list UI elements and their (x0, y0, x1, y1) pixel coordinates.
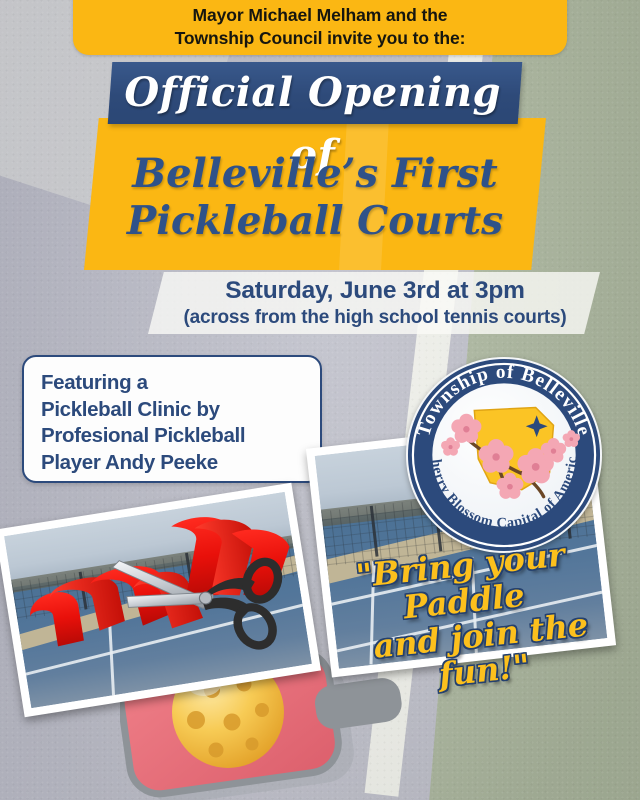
headline-line-1: Belleville’s First (132, 150, 497, 197)
featuring-line-2: Pickleball Clinic by (41, 397, 320, 424)
invitation-line-1: Mayor Michael Melham and the (175, 4, 466, 26)
event-date-block: Saturday, June 3rd at 3pm (across from t… (120, 276, 630, 331)
event-date: Saturday, June 3rd at 3pm (120, 276, 630, 306)
invitation-banner: Mayor Michael Melham and the Township Co… (73, 0, 567, 55)
headline-line-2: Pickleball Courts (127, 198, 503, 244)
headline-yellow-text: Belleville’s First Pickleball Courts (84, 122, 546, 272)
scissors-icon (4, 492, 312, 708)
invitation-line-2: Township Council invite you to the: (175, 27, 466, 49)
township-seal-icon: Township of Belleville Cherry Blossom Ca… (405, 356, 603, 554)
invitation-banner-text: Mayor Michael Melham and the Township Co… (175, 4, 466, 49)
headline-navy-bar: Official Opening of (108, 62, 523, 124)
featuring-line-3: Profesional Pickleball (41, 423, 320, 450)
featuring-callout-box: Featuring a Pickleball Clinic by Profesi… (22, 355, 322, 483)
poster-root: Mayor Michael Melham and the Township Co… (0, 0, 640, 800)
event-location: (across from the high school tennis cour… (120, 306, 630, 331)
featuring-line-4: Player Andy Peeke (41, 450, 320, 477)
photo-ribbon-image (4, 492, 312, 708)
featuring-line-1: Featuring a (41, 370, 320, 397)
